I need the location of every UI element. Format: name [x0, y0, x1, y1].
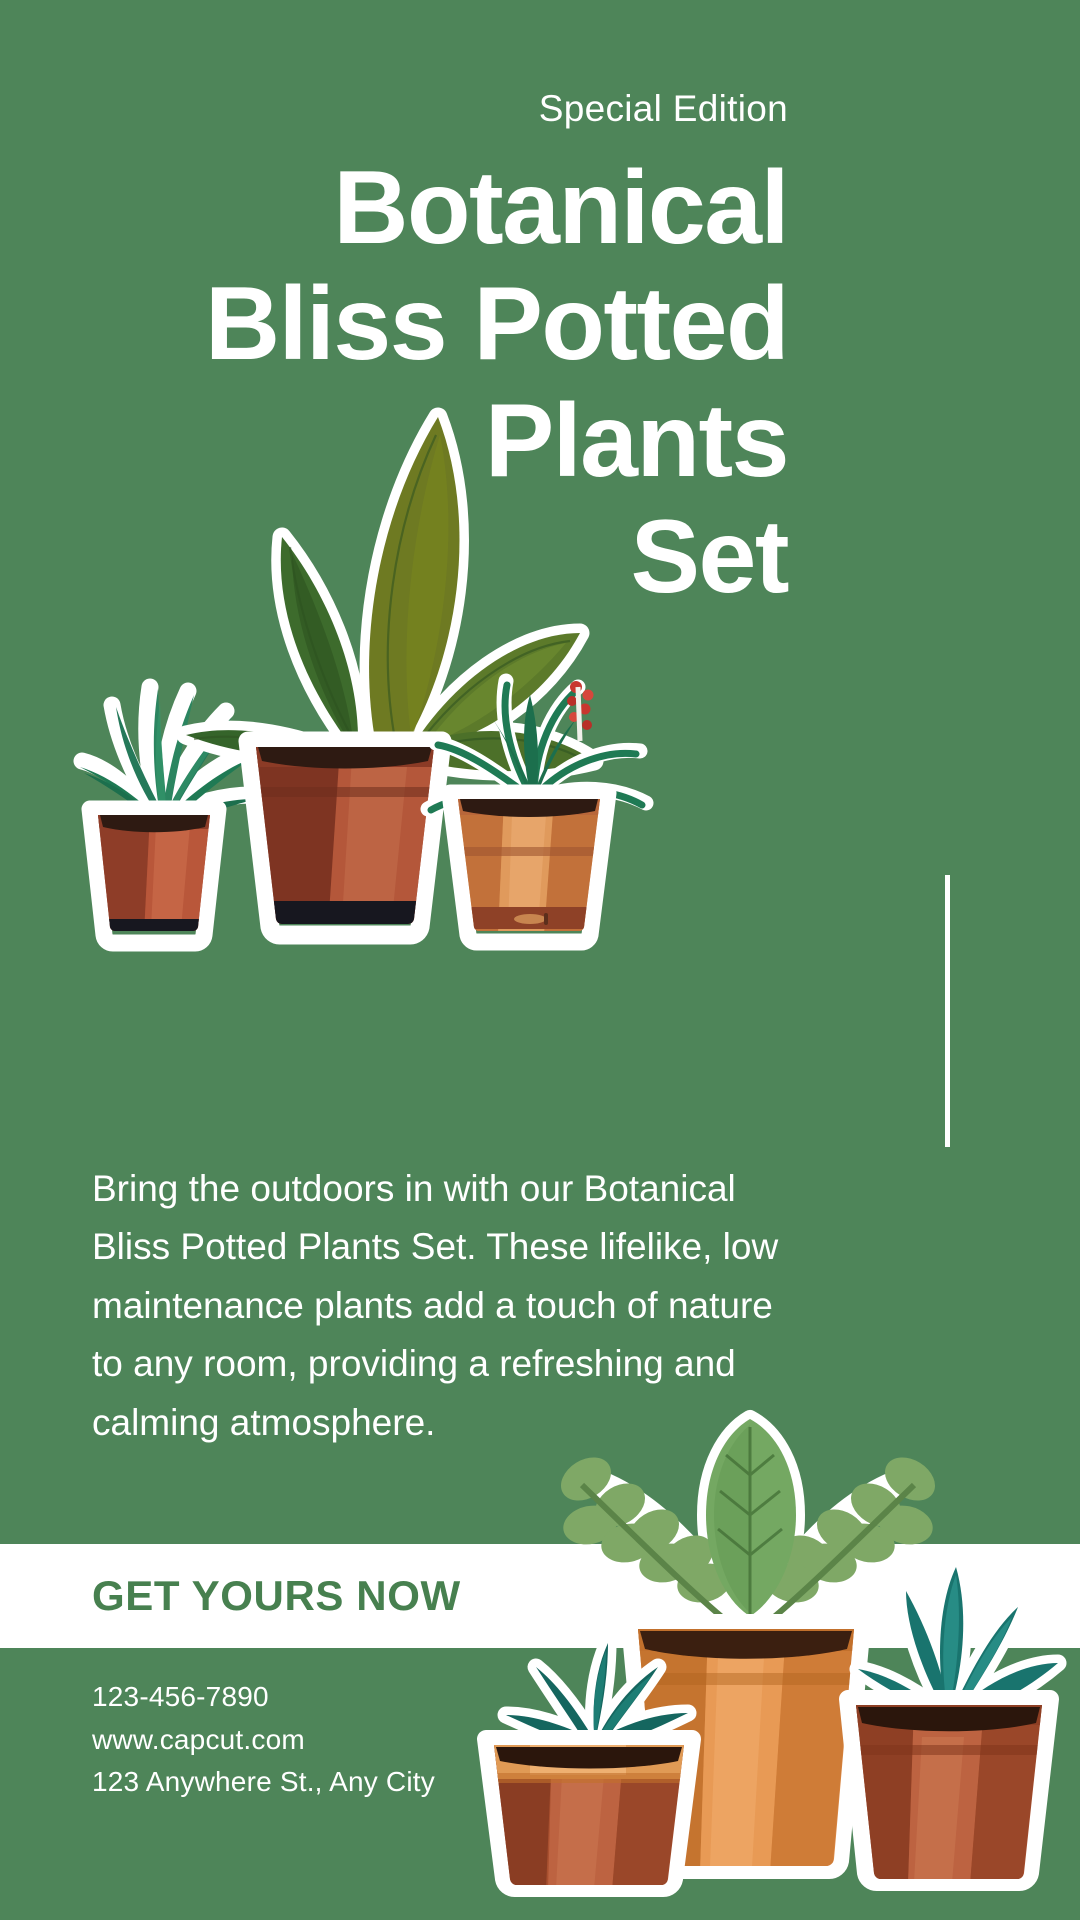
corner-plants-illustration [470, 1415, 1080, 1920]
title-line-1: Botanical [0, 150, 788, 266]
footer-website[interactable]: www.capcut.com [92, 1719, 435, 1762]
get-yours-now-button[interactable]: GET YOURS NOW [92, 1572, 461, 1620]
description-text: Bring the outdoors in with our Botanical… [92, 1160, 792, 1452]
eyebrow-label: Special Edition [539, 88, 788, 130]
footer-address: 123 Anywhere St., Any City [92, 1761, 435, 1804]
vertical-accent-rule [945, 875, 950, 1147]
corner-agave-plant [846, 1567, 1058, 1885]
flower-buds [567, 681, 594, 741]
title-line-2: Bliss Potted [0, 266, 788, 382]
footer-phone[interactable]: 123-456-7890 [92, 1676, 435, 1719]
poster-canvas: Special Edition Botanical Bliss Potted P… [0, 0, 1080, 1920]
description-block: Bring the outdoors in with our Botanical… [92, 1160, 792, 1452]
hero-plants-illustration [60, 395, 670, 955]
footer-contact-block: 123-456-7890 www.capcut.com 123 Anywhere… [92, 1676, 435, 1804]
